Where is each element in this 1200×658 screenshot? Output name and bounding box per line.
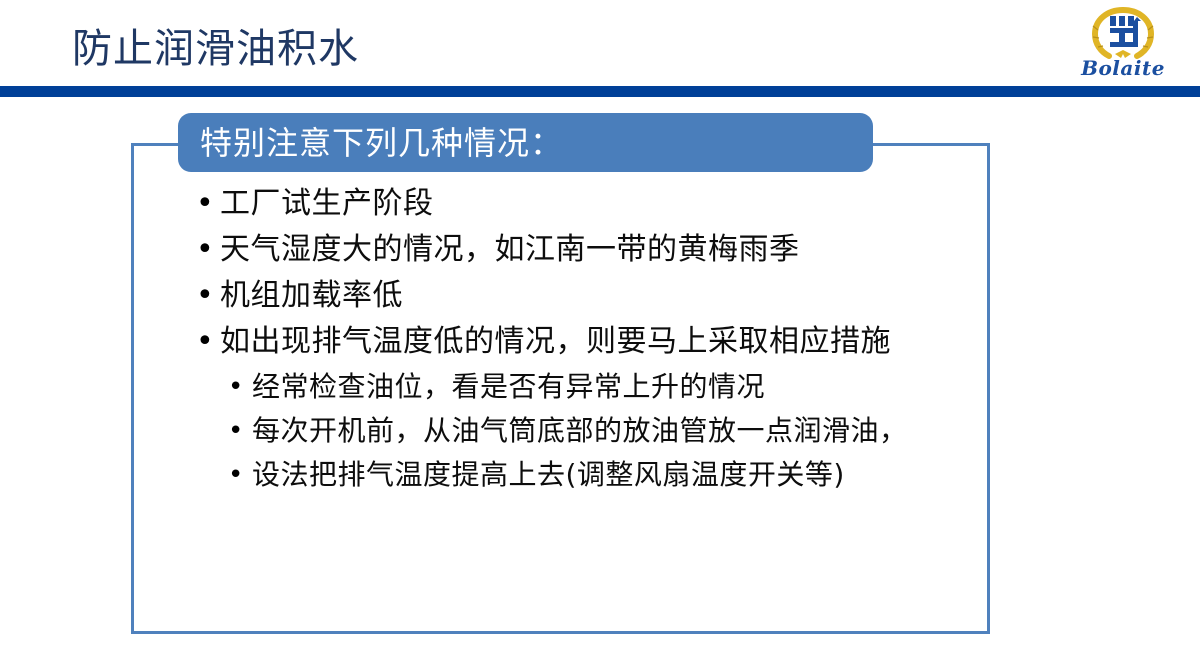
header-divider-highlight: [0, 97, 1200, 99]
bullet-marker-icon: •: [196, 274, 220, 318]
callout-banner: 特别注意下列几种情况：: [178, 113, 873, 172]
list-item: •经常检查油位，看是否有异常上升的情况: [196, 366, 976, 408]
list-item-label: 如出现排气温度低的情况，则要马上采取相应措施: [220, 320, 920, 364]
header-divider-bar: [0, 86, 1200, 97]
list-item: •天气湿度大的情况，如江南一带的黄梅雨季: [196, 228, 976, 272]
list-item: •设法把排气温度提高上去(调整风扇温度开关等): [196, 454, 976, 496]
callout-banner-text: 特别注意下列几种情况：: [200, 126, 563, 160]
bullet-marker-icon: •: [228, 454, 252, 496]
list-item-label: 每次开机前，从油气筒底部的放油管放一点润滑油，: [252, 410, 922, 452]
list-item: •每次开机前，从油气筒底部的放油管放一点润滑油，: [196, 410, 976, 452]
bolaite-emblem-icon: [1085, 4, 1161, 60]
list-item-label: 工厂试生产阶段: [220, 182, 920, 226]
list-item: •如出现排气温度低的情况，则要马上采取相应措施: [196, 320, 976, 364]
logo-wordmark: Bolaite: [1064, 56, 1182, 80]
bullet-marker-icon: •: [196, 320, 220, 364]
brand-logo: Bolaite: [1064, 4, 1182, 86]
bullet-marker-icon: •: [228, 366, 252, 408]
page-title: 防止润滑油积水: [72, 20, 359, 78]
list-item-label: 天气湿度大的情况，如江南一带的黄梅雨季: [220, 228, 920, 272]
list-item: •工厂试生产阶段: [196, 182, 976, 226]
list-item-label: 经常检查油位，看是否有异常上升的情况: [252, 366, 922, 408]
list-item-label: 机组加载率低: [220, 274, 920, 318]
bullet-marker-icon: •: [228, 410, 252, 452]
list-item: •机组加载率低: [196, 274, 976, 318]
slide: 防止润滑油积水: [0, 0, 1200, 658]
bullet-marker-icon: •: [196, 182, 220, 226]
list-item-label: 设法把排气温度提高上去(调整风扇温度开关等): [252, 454, 922, 496]
bullet-marker-icon: •: [196, 228, 220, 272]
bullet-list: •工厂试生产阶段•天气湿度大的情况，如江南一带的黄梅雨季•机组加载率低•如出现排…: [196, 182, 976, 498]
